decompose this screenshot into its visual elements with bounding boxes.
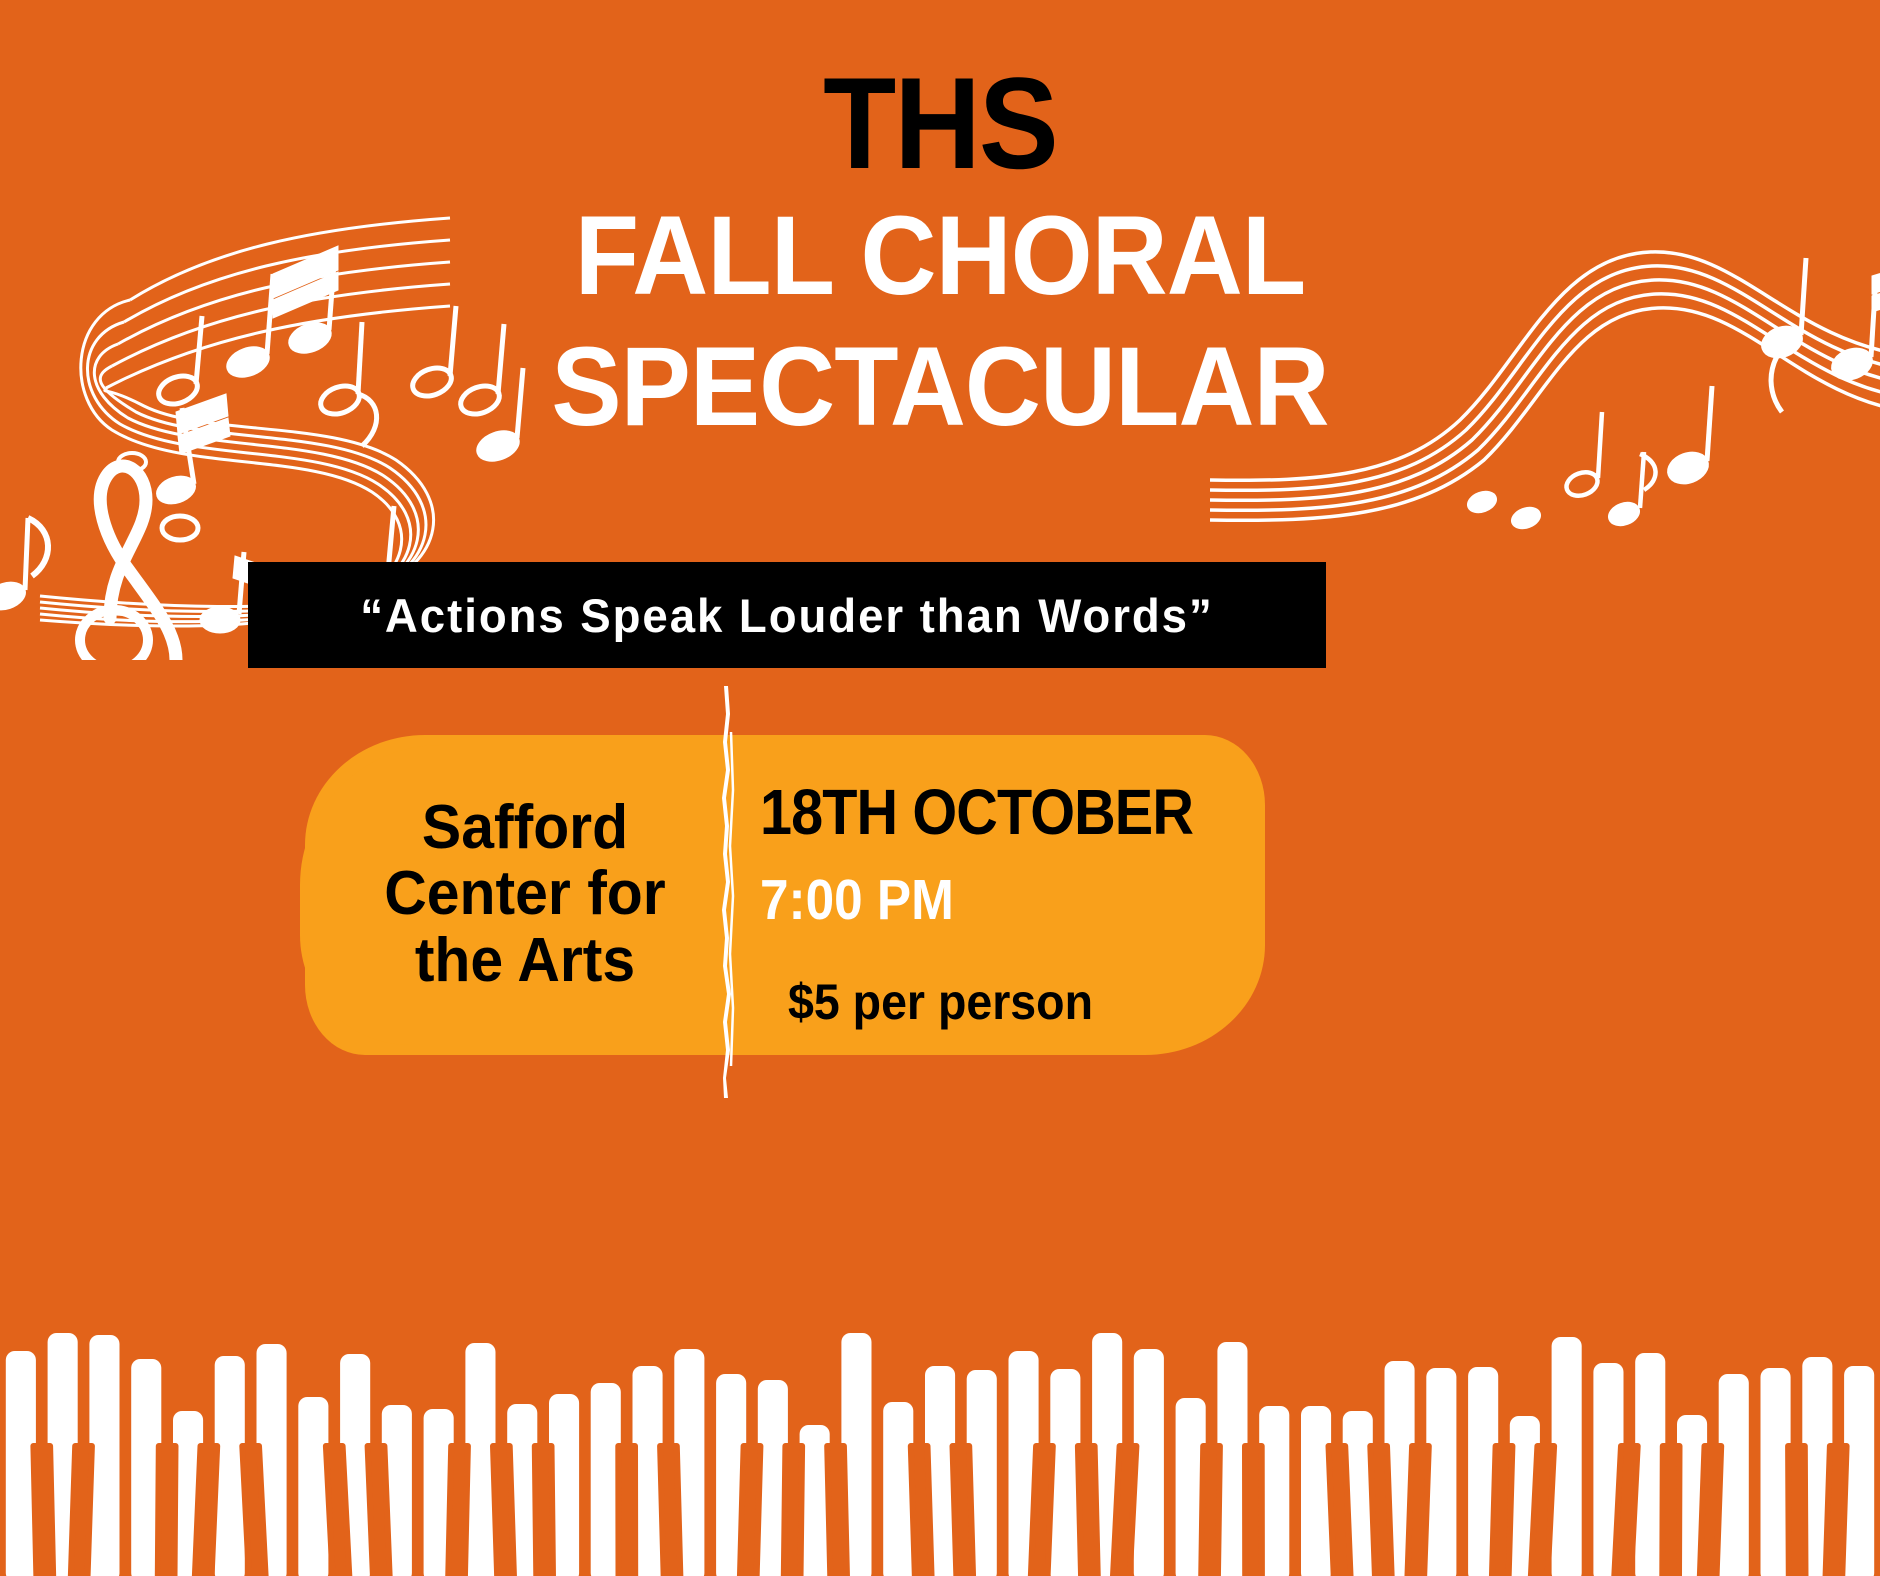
page-title: THS FALL CHORAL SPECTACULAR [0, 58, 1880, 455]
venue-name: Safford Center for the Arts [340, 795, 711, 994]
event-date: 18TH OCTOBER [760, 780, 1228, 844]
venue-line-1: Safford [340, 795, 711, 861]
brush-stroke-divider-icon [718, 686, 740, 1098]
event-time: 7:00 PM [760, 872, 1228, 929]
school-initials: THS [75, 58, 1805, 188]
ticket-price: $5 per person [788, 977, 1246, 1027]
quote-banner: “Actions Speak Louder than Words” [248, 562, 1326, 668]
quote-text: “Actions Speak Louder than Words” [360, 588, 1214, 643]
event-details: 18TH OCTOBER 7:00 PM $5 per person [760, 780, 1280, 1027]
price-amount: $5 [788, 974, 840, 1030]
title-line-1: FALL CHORAL [56, 188, 1823, 325]
venue-line-3: the Arts [340, 928, 711, 994]
piano-keys-border [0, 1316, 1880, 1576]
price-unit: per person [853, 974, 1093, 1030]
venue-line-2: Center for [340, 861, 711, 927]
title-line-2: SPECTACULAR [56, 319, 1823, 456]
poster-canvas: THS FALL CHORAL SPECTACULAR “Actions Spe… [0, 0, 1880, 1576]
